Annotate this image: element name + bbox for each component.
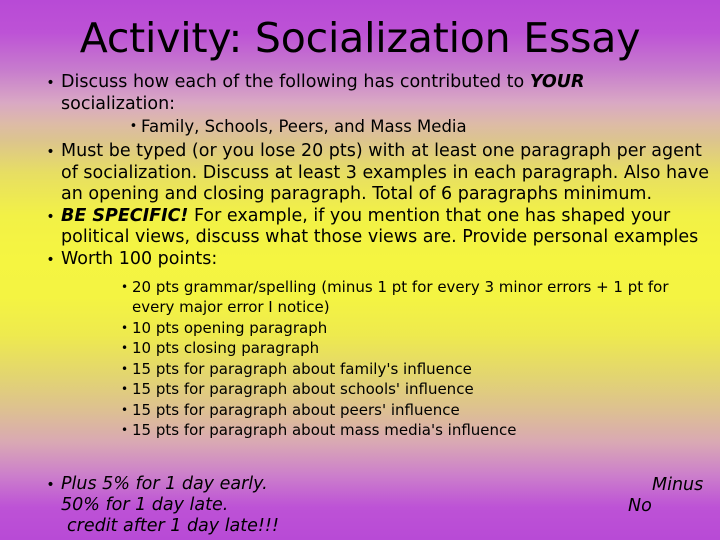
- list-item: • 10 pts closing paragraph: [0, 338, 720, 359]
- bullet-item-agents: • Family, Schools, Peers, and Mass Media: [0, 116, 720, 138]
- bullet-text-discuss-part2: socialization:: [61, 94, 175, 114]
- bullet-marker-icon: •: [117, 379, 132, 400]
- stray-text-no: No: [628, 496, 652, 517]
- points-text-peers: 15 pts for paragraph about peers' influe…: [132, 400, 720, 421]
- slide-body: • Discuss how each of the following has …: [0, 72, 720, 441]
- late-policy-line2: 50% for 1 day late.: [61, 495, 228, 515]
- bullet-text-specific: BE SPECIFIC! For example, if you mention…: [61, 206, 720, 249]
- late-policy-line1: Plus 5% for 1 day early.: [61, 474, 268, 494]
- points-text-family: 15 pts for paragraph about family's infl…: [132, 359, 720, 380]
- bullet-marker-icon: •: [117, 359, 132, 380]
- bullet-text-late-policy: Plus 5% for 1 day early.50% for 1 day la…: [61, 474, 720, 537]
- bullet-marker-icon: •: [117, 277, 132, 298]
- list-item: • 20 pts grammar/spelling (minus 1 pt fo…: [0, 277, 720, 318]
- stray-text-minus: Minus: [652, 475, 703, 496]
- slide-canvas: Activity: Socialization Essay • Discuss …: [0, 0, 720, 540]
- bullet-text-discuss-part1: Discuss how each of the following has co…: [61, 72, 530, 92]
- emphasis-your: YOUR: [530, 72, 585, 92]
- bullet-item-worth: • Worth 100 points:: [0, 249, 720, 271]
- bullet-item-late-policy: • Plus 5% for 1 day early.50% for 1 day …: [0, 474, 720, 537]
- bullet-marker-icon: •: [40, 141, 61, 163]
- bullet-marker-icon: •: [117, 420, 132, 441]
- points-text-grammar: 20 pts grammar/spelling (minus 1 pt for …: [132, 277, 720, 318]
- bullet-marker-icon: •: [40, 249, 61, 271]
- bullet-text-typed: Must be typed (or you lose 20 pts) with …: [61, 141, 720, 206]
- bullet-text-agents: Family, Schools, Peers, and Mass Media: [141, 116, 720, 138]
- bullet-text-worth: Worth 100 points:: [61, 249, 720, 271]
- bullet-marker-icon: •: [117, 318, 132, 339]
- list-item: • 15 pts for paragraph about schools' in…: [0, 379, 720, 400]
- bullet-text-discuss: Discuss how each of the following has co…: [61, 72, 720, 115]
- points-text-massmedia: 15 pts for paragraph about mass media's …: [132, 420, 720, 441]
- points-text-schools: 15 pts for paragraph about schools' infl…: [132, 379, 720, 400]
- list-item: • 15 pts for paragraph about peers' infl…: [0, 400, 720, 421]
- list-item: • 10 pts opening paragraph: [0, 318, 720, 339]
- list-item: • 15 pts for paragraph about mass media'…: [0, 420, 720, 441]
- bullet-marker-icon: •: [117, 338, 132, 359]
- page-title: Activity: Socialization Essay: [0, 14, 720, 62]
- bullet-marker-icon: •: [40, 206, 61, 228]
- points-text-closing: 10 pts closing paragraph: [132, 338, 720, 359]
- bullet-item-typed: • Must be typed (or you lose 20 pts) wit…: [0, 141, 720, 206]
- slide-footer-block: • Plus 5% for 1 day early.50% for 1 day …: [0, 474, 720, 537]
- bullet-marker-icon: •: [40, 72, 61, 94]
- bullet-item-specific: • BE SPECIFIC! For example, if you menti…: [0, 206, 720, 249]
- bullet-marker-icon: •: [40, 474, 61, 496]
- bullet-item-discuss: • Discuss how each of the following has …: [0, 72, 720, 115]
- emphasis-be-specific: BE SPECIFIC!: [61, 206, 188, 226]
- list-item: • 15 pts for paragraph about family's in…: [0, 359, 720, 380]
- late-policy-line3: credit after 1 day late!!!: [61, 516, 716, 537]
- points-text-opening: 10 pts opening paragraph: [132, 318, 720, 339]
- bullet-marker-icon: •: [126, 116, 141, 138]
- bullet-marker-icon: •: [117, 400, 132, 421]
